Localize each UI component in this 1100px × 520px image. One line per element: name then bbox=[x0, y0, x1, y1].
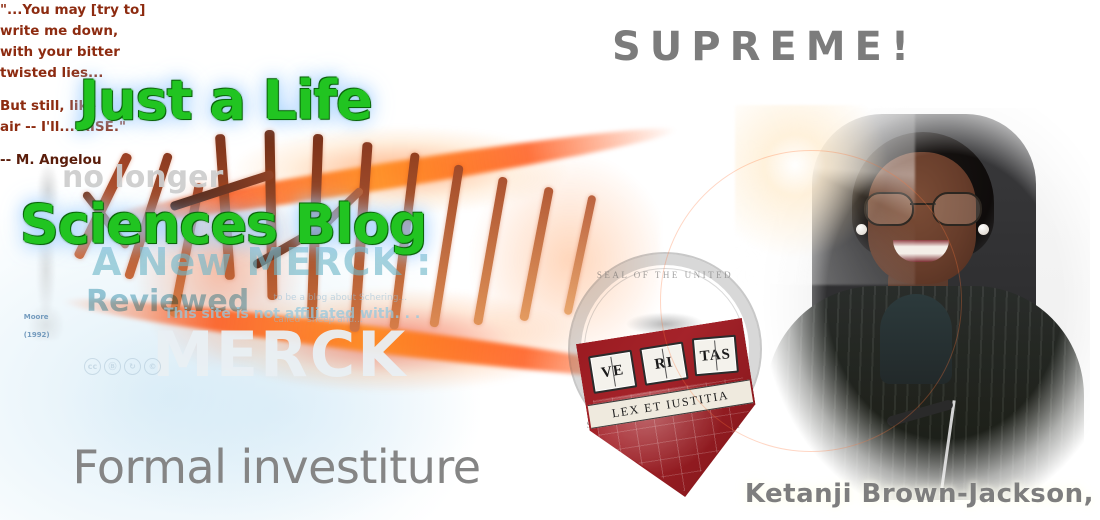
portrait-credit-caption: Ketanji Brown-Jackson, from D.C. Circuit… bbox=[560, 436, 1094, 520]
smile bbox=[893, 240, 949, 262]
chair-back bbox=[812, 114, 1036, 374]
eyeglasses-icon bbox=[864, 192, 982, 222]
lens-left bbox=[864, 192, 914, 226]
face bbox=[868, 152, 976, 284]
earring-right bbox=[978, 224, 989, 235]
headline-line-1: Formal investiture bbox=[73, 440, 481, 494]
neck bbox=[888, 260, 948, 316]
seal-bottom-text: STATES SUPREME COURT bbox=[570, 420, 760, 430]
robe-collar bbox=[880, 294, 952, 384]
seal-inner-ring bbox=[584, 268, 746, 430]
blog-title-line-2: Sciences Blog bbox=[20, 194, 426, 256]
shield-book-three: TAS bbox=[692, 335, 739, 377]
credit-line-1: Ketanji Brown-Jackson, bbox=[745, 479, 1094, 509]
headline: Formal investiture this morning... bbox=[16, 368, 481, 520]
lens-flare bbox=[735, 105, 915, 285]
seal-top-text: SEAL OF THE UNITED bbox=[570, 270, 760, 280]
eagle-emblem-icon bbox=[608, 300, 722, 396]
glasses-bridge bbox=[910, 203, 936, 205]
supreme-court-seal: SEAL OF THE UNITED STATES SUPREME COURT bbox=[568, 252, 762, 446]
blog-title-line-1: Just a Life bbox=[79, 69, 372, 132]
shield-book-one: VE bbox=[588, 350, 637, 394]
blog-banner-image: SEAL OF THE UNITED STATES SUPREME COURT … bbox=[0, 0, 1100, 520]
shield-book-two: RI bbox=[639, 341, 688, 385]
lens-flare-ring bbox=[660, 150, 962, 452]
earring-left bbox=[856, 224, 867, 235]
supreme-label: SUPREME! bbox=[612, 24, 918, 70]
hair bbox=[852, 132, 994, 258]
blog-title: Just a Life Sciences Blog bbox=[8, 8, 426, 380]
shield-motto-banner: LEX ET IUSTITIA bbox=[588, 379, 754, 428]
lens-right bbox=[932, 192, 982, 226]
microphone-icon bbox=[886, 399, 954, 427]
